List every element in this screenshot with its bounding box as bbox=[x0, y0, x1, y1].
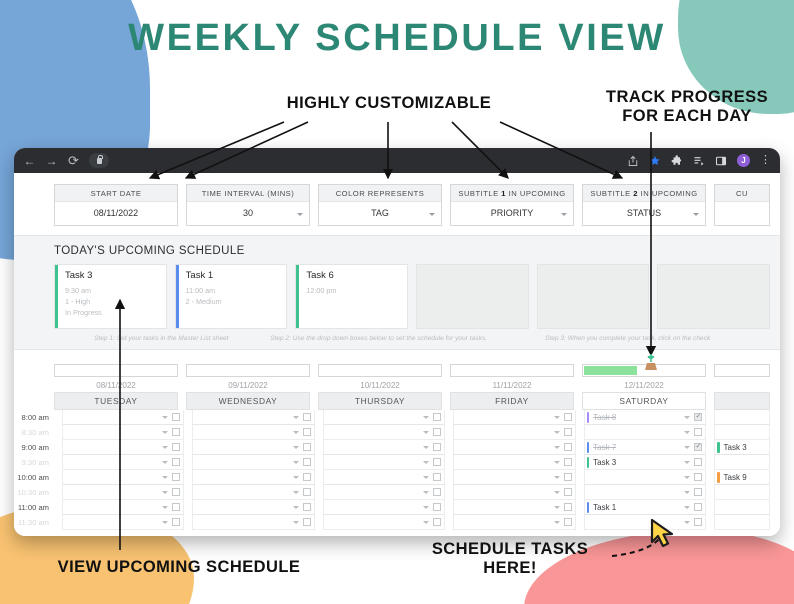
setting-label-0: START DATE bbox=[55, 185, 177, 202]
day-name-header: SATURDAY bbox=[582, 392, 706, 410]
day-name-header: WEDNESDAY bbox=[186, 392, 310, 410]
day-name-row: TUESDAYWEDNESDAYTHURSDAYFRIDAYSATURDAY bbox=[14, 392, 780, 410]
schedule-cell[interactable] bbox=[62, 410, 184, 425]
chevron-down-icon[interactable] bbox=[684, 446, 690, 449]
chevron-down-icon[interactable] bbox=[423, 446, 429, 449]
task-checkbox[interactable] bbox=[172, 518, 180, 526]
lock-icon bbox=[97, 158, 102, 164]
time-grid-row: 8:00 amTask 8 bbox=[14, 410, 780, 425]
chevron-down-icon[interactable] bbox=[554, 476, 560, 479]
task-checkbox[interactable] bbox=[564, 503, 572, 511]
chevron-down-icon[interactable] bbox=[162, 476, 168, 479]
time-grid-row: 11:00 amTask 1 bbox=[14, 500, 780, 515]
reload-icon[interactable]: ⟳ bbox=[67, 154, 80, 167]
schedule-cell[interactable] bbox=[192, 410, 314, 425]
task-checkbox[interactable] bbox=[172, 428, 180, 436]
task-checkbox[interactable] bbox=[303, 443, 311, 451]
task-label: Task 7 bbox=[589, 443, 616, 452]
chevron-down-icon[interactable] bbox=[293, 416, 299, 419]
day-date-label: 12/11/2022 bbox=[582, 381, 706, 390]
schedule-cell[interactable]: Task 1 bbox=[584, 500, 706, 515]
card-time: 12:00 pm bbox=[306, 285, 336, 296]
chevron-down-icon[interactable] bbox=[684, 476, 690, 479]
schedule-cell[interactable] bbox=[323, 485, 445, 500]
setting-value-1[interactable]: 30 bbox=[187, 202, 309, 225]
schedule-cell[interactable] bbox=[192, 440, 314, 455]
chevron-down-icon[interactable] bbox=[554, 431, 560, 434]
task-checkbox[interactable] bbox=[433, 488, 441, 496]
setting-value-4[interactable]: STATUS bbox=[583, 202, 705, 225]
chevron-down-icon[interactable] bbox=[293, 461, 299, 464]
day-progress-bar bbox=[450, 364, 574, 377]
task-checkbox[interactable] bbox=[303, 518, 311, 526]
avatar[interactable]: J bbox=[737, 154, 750, 167]
callout-highly-customizable: HIGHLY CUSTOMIZABLE bbox=[262, 94, 516, 113]
task-checkbox[interactable] bbox=[433, 443, 441, 451]
schedule-cell[interactable] bbox=[192, 455, 314, 470]
task-checkbox[interactable] bbox=[694, 488, 702, 496]
task-label: Task 3 bbox=[720, 443, 747, 452]
chevron-down-icon[interactable] bbox=[162, 491, 168, 494]
day-date-label: 11/11/2022 bbox=[450, 381, 574, 390]
chevron-down-icon[interactable] bbox=[293, 446, 299, 449]
day-progress-bar bbox=[54, 364, 178, 377]
setting-label-5: CU bbox=[715, 185, 769, 202]
task-checkbox[interactable] bbox=[303, 473, 311, 481]
task-checkbox[interactable] bbox=[172, 413, 180, 421]
schedule-cell[interactable] bbox=[323, 455, 445, 470]
setting-label-3: SUBTITLE 1 IN UPCOMING bbox=[451, 185, 573, 202]
setting-field-5[interactable]: CU bbox=[714, 184, 770, 226]
schedule-cell[interactable] bbox=[323, 410, 445, 425]
task-checkbox[interactable] bbox=[564, 428, 572, 436]
task-checkbox[interactable] bbox=[564, 413, 572, 421]
time-grid-row: 10:00 amTask 9 bbox=[14, 470, 780, 485]
chevron-down-icon[interactable] bbox=[554, 416, 560, 419]
schedule-cell[interactable] bbox=[453, 410, 575, 425]
day-progress-bar bbox=[186, 364, 310, 377]
day-name-header: FRIDAY bbox=[450, 392, 574, 410]
schedule-cell[interactable] bbox=[323, 440, 445, 455]
time-label: 10:00 am bbox=[14, 470, 54, 485]
card-priority: 1 - High bbox=[65, 296, 102, 307]
schedule-cell[interactable] bbox=[453, 425, 575, 440]
page-title: WEEKLY SCHEDULE VIEW bbox=[0, 17, 794, 60]
extensions-puzzle-icon[interactable] bbox=[671, 155, 683, 167]
task-checkbox[interactable] bbox=[564, 473, 572, 481]
task-checkbox[interactable] bbox=[433, 518, 441, 526]
task-checkbox[interactable] bbox=[564, 458, 572, 466]
schedule-cell[interactable] bbox=[453, 455, 575, 470]
setting-field-4[interactable]: SUBTITLE 2 IN UPCOMINGSTATUS bbox=[582, 184, 706, 226]
chevron-down-icon[interactable] bbox=[684, 416, 690, 419]
chevron-down-icon[interactable] bbox=[423, 521, 429, 524]
card-priority: 2 - Medium bbox=[186, 296, 222, 307]
card-body: Task 39:30 am1 - HighIn Progress bbox=[58, 265, 109, 328]
task-checkbox[interactable] bbox=[433, 503, 441, 511]
day-progress-row bbox=[14, 350, 780, 381]
schedule-cell[interactable] bbox=[714, 515, 770, 530]
card-body: Task 612:00 pm bbox=[299, 265, 343, 328]
bookmark-star-icon[interactable] bbox=[649, 155, 661, 167]
time-label: 8:00 am bbox=[14, 410, 54, 425]
chevron-down-icon[interactable] bbox=[162, 461, 168, 464]
chevron-down-icon[interactable] bbox=[293, 506, 299, 509]
step-1-text: Step 1: Set your tasks in the Master Lis… bbox=[94, 335, 244, 342]
task-label: Task 3 bbox=[589, 458, 616, 467]
step-3-text: Step 3: When you complete your task, cli… bbox=[545, 335, 760, 342]
spreadsheet-area: START DATE08/11/2022TIME INTERVAL (MINS)… bbox=[14, 173, 780, 536]
setting-label-4: SUBTITLE 2 IN UPCOMING bbox=[583, 185, 705, 202]
setting-field-3[interactable]: SUBTITLE 1 IN UPCOMINGPRIORITY bbox=[450, 184, 574, 226]
day-name-header: THURSDAY bbox=[318, 392, 442, 410]
schedule-cell[interactable] bbox=[62, 485, 184, 500]
chevron-down-icon[interactable] bbox=[554, 521, 560, 524]
time-label: 10:30 am bbox=[14, 485, 54, 500]
schedule-cell[interactable] bbox=[192, 485, 314, 500]
setting-value-2[interactable]: TAG bbox=[319, 202, 441, 225]
upcoming-card[interactable]: Task 39:30 am1 - HighIn Progress bbox=[54, 264, 167, 329]
schedule-cell[interactable] bbox=[714, 410, 770, 425]
chevron-down-icon[interactable] bbox=[293, 476, 299, 479]
schedule-cell[interactable]: Task 3 bbox=[584, 455, 706, 470]
step-instructions: Step 1: Set your tasks in the Master Lis… bbox=[54, 329, 770, 349]
task-checkbox[interactable] bbox=[694, 428, 702, 436]
schedule-cell[interactable] bbox=[584, 485, 706, 500]
forward-arrow-icon[interactable]: → bbox=[45, 155, 58, 167]
chevron-down-icon[interactable] bbox=[554, 491, 560, 494]
time-grid-row: 10:30 am bbox=[14, 485, 780, 500]
time-label: 11:30 am bbox=[14, 515, 54, 530]
poster-canvas: WEEKLY SCHEDULE VIEW HIGHLY CUSTOMIZABLE… bbox=[0, 0, 794, 604]
setting-value-0[interactable]: 08/11/2022 bbox=[55, 202, 177, 225]
chevron-down-icon[interactable] bbox=[293, 431, 299, 434]
task-label: Task 8 bbox=[589, 413, 616, 422]
time-grid: 8:00 amTask 88:30 am9:00 amTask 7Task 39… bbox=[14, 410, 780, 530]
task-checkbox[interactable] bbox=[433, 428, 441, 436]
schedule-cell[interactable] bbox=[192, 425, 314, 440]
task-checkbox[interactable] bbox=[303, 413, 311, 421]
card-title: Task 3 bbox=[65, 270, 102, 281]
task-checkbox[interactable] bbox=[564, 488, 572, 496]
chevron-down-icon[interactable] bbox=[162, 521, 168, 524]
schedule-cell[interactable] bbox=[62, 515, 184, 530]
schedule-cell[interactable]: Task 8 bbox=[584, 410, 706, 425]
settings-row: START DATE08/11/2022TIME INTERVAL (MINS)… bbox=[14, 173, 780, 235]
day-date-label bbox=[714, 381, 770, 390]
day-name-header: TUESDAY bbox=[54, 392, 178, 410]
chevron-down-icon[interactable] bbox=[423, 431, 429, 434]
schedule-cell[interactable] bbox=[714, 425, 770, 440]
task-checkbox[interactable] bbox=[303, 503, 311, 511]
schedule-cell[interactable] bbox=[323, 515, 445, 530]
share-icon[interactable] bbox=[627, 155, 639, 167]
cursor-pointer-icon bbox=[648, 516, 678, 550]
schedule-cell[interactable]: Task 3 bbox=[714, 440, 770, 455]
chevron-down-icon[interactable] bbox=[554, 506, 560, 509]
browser-toolbar: ← → ⟳ J ⋮ bbox=[14, 148, 780, 173]
task-checkbox[interactable] bbox=[694, 473, 702, 481]
schedule-cell[interactable] bbox=[323, 470, 445, 485]
task-checkbox[interactable] bbox=[303, 428, 311, 436]
schedule-cell[interactable] bbox=[453, 500, 575, 515]
setting-value-5[interactable] bbox=[715, 202, 769, 222]
schedule-cell[interactable] bbox=[62, 425, 184, 440]
card-title: Task 6 bbox=[306, 270, 336, 281]
task-checkbox[interactable] bbox=[172, 503, 180, 511]
progress-fill bbox=[584, 366, 637, 375]
time-grid-row: 9:00 amTask 7Task 3 bbox=[14, 440, 780, 455]
card-time: 11:00 am bbox=[186, 285, 222, 296]
chevron-down-icon[interactable] bbox=[554, 446, 560, 449]
setting-label-2: COLOR REPRESENTS bbox=[319, 185, 441, 202]
upcoming-card[interactable]: Task 111:00 am2 - Medium bbox=[175, 264, 288, 329]
task-checkbox[interactable] bbox=[172, 443, 180, 451]
schedule-cell[interactable] bbox=[192, 515, 314, 530]
callout-view-upcoming: VIEW UPCOMING SCHEDULE bbox=[14, 558, 344, 577]
chevron-down-icon[interactable] bbox=[162, 446, 168, 449]
chevron-down-icon[interactable] bbox=[561, 213, 567, 216]
schedule-cell[interactable]: Task 7 bbox=[584, 440, 706, 455]
task-checkbox[interactable] bbox=[694, 458, 702, 466]
task-checkbox[interactable] bbox=[694, 443, 702, 451]
task-checkbox[interactable] bbox=[694, 413, 702, 421]
chevron-down-icon[interactable] bbox=[684, 461, 690, 464]
schedule-cell[interactable] bbox=[714, 500, 770, 515]
schedule-cell[interactable] bbox=[62, 500, 184, 515]
day-name-header bbox=[714, 392, 770, 410]
upcoming-schedule-panel: TODAY'S UPCOMING SCHEDULE Task 39:30 am1… bbox=[14, 235, 780, 350]
task-checkbox[interactable] bbox=[172, 488, 180, 496]
card-title: Task 1 bbox=[186, 270, 222, 281]
side-panel-icon[interactable] bbox=[715, 155, 727, 167]
reading-list-icon[interactable] bbox=[693, 155, 705, 167]
chevron-down-icon[interactable] bbox=[684, 431, 690, 434]
schedule-cell[interactable] bbox=[584, 425, 706, 440]
schedule-cell[interactable] bbox=[453, 515, 575, 530]
upcoming-card-list: Task 39:30 am1 - HighIn ProgressTask 111… bbox=[54, 264, 770, 329]
chevron-down-icon[interactable] bbox=[684, 521, 690, 524]
task-checkbox[interactable] bbox=[172, 473, 180, 481]
chevron-down-icon[interactable] bbox=[162, 431, 168, 434]
chevron-down-icon[interactable] bbox=[162, 506, 168, 509]
schedule-cell[interactable] bbox=[62, 455, 184, 470]
upcoming-card[interactable]: Task 612:00 pm bbox=[295, 264, 408, 329]
schedule-cell[interactable] bbox=[323, 425, 445, 440]
setting-field-2[interactable]: COLOR REPRESENTSTAG bbox=[318, 184, 442, 226]
plant-progress-icon bbox=[640, 352, 662, 374]
task-label: Task 1 bbox=[589, 503, 616, 512]
schedule-cell[interactable] bbox=[62, 470, 184, 485]
chevron-down-icon[interactable] bbox=[423, 461, 429, 464]
upcoming-card[interactable] bbox=[537, 264, 650, 329]
chevron-down-icon[interactable] bbox=[423, 416, 429, 419]
chevron-down-icon[interactable] bbox=[684, 506, 690, 509]
chevron-down-icon[interactable] bbox=[554, 461, 560, 464]
browser-window: ← → ⟳ J ⋮ START DATE08/11/2022TIME INTER… bbox=[14, 148, 780, 536]
chevron-down-icon[interactable] bbox=[693, 213, 699, 216]
schedule-cell[interactable] bbox=[714, 455, 770, 470]
task-checkbox[interactable] bbox=[433, 473, 441, 481]
task-checkbox[interactable] bbox=[564, 518, 572, 526]
back-arrow-icon[interactable]: ← bbox=[23, 155, 36, 167]
chevron-down-icon[interactable] bbox=[423, 506, 429, 509]
day-date-label: 10/11/2022 bbox=[318, 381, 442, 390]
chevron-down-icon[interactable] bbox=[684, 491, 690, 494]
task-checkbox[interactable] bbox=[303, 458, 311, 466]
address-bar[interactable] bbox=[89, 153, 109, 168]
time-label: 8:30 am bbox=[14, 425, 54, 440]
day-date-row: 08/11/202209/11/202210/11/202211/11/2022… bbox=[14, 381, 780, 392]
schedule-cell[interactable] bbox=[453, 485, 575, 500]
step-2-text: Step 2: Use the drop down boxes below to… bbox=[252, 335, 537, 342]
time-label: 11:00 am bbox=[14, 500, 54, 515]
schedule-cell[interactable] bbox=[453, 470, 575, 485]
task-checkbox[interactable] bbox=[694, 518, 702, 526]
schedule-cell[interactable] bbox=[584, 515, 706, 530]
time-grid-row: 9:30 amTask 3 bbox=[14, 455, 780, 470]
upcoming-card[interactable] bbox=[416, 264, 529, 329]
card-body: Task 111:00 am2 - Medium bbox=[179, 265, 229, 328]
schedule-cell[interactable] bbox=[192, 500, 314, 515]
task-checkbox[interactable] bbox=[694, 503, 702, 511]
chevron-down-icon[interactable] bbox=[297, 213, 303, 216]
setting-field-1[interactable]: TIME INTERVAL (MINS)30 bbox=[186, 184, 310, 226]
task-checkbox[interactable] bbox=[564, 443, 572, 451]
chevron-down-icon[interactable] bbox=[293, 521, 299, 524]
task-checkbox[interactable] bbox=[303, 488, 311, 496]
upcoming-heading: TODAY'S UPCOMING SCHEDULE bbox=[54, 245, 770, 264]
chevron-down-icon[interactable] bbox=[293, 491, 299, 494]
day-date-label: 08/11/2022 bbox=[54, 381, 178, 390]
chevron-down-icon[interactable] bbox=[423, 491, 429, 494]
callout-schedule-tasks: SCHEDULE TASKS HERE! bbox=[404, 540, 616, 578]
schedule-cell[interactable] bbox=[192, 470, 314, 485]
time-label: 9:30 am bbox=[14, 455, 54, 470]
upcoming-card[interactable] bbox=[657, 264, 770, 329]
chevron-down-icon[interactable] bbox=[423, 476, 429, 479]
chevron-down-icon[interactable] bbox=[162, 416, 168, 419]
day-date-label: 09/11/2022 bbox=[186, 381, 310, 390]
time-label: 9:00 am bbox=[14, 440, 54, 455]
three-dot-menu-icon[interactable]: ⋮ bbox=[760, 155, 771, 166]
schedule-cell[interactable] bbox=[584, 470, 706, 485]
schedule-cell[interactable] bbox=[62, 440, 184, 455]
task-checkbox[interactable] bbox=[433, 458, 441, 466]
card-status: In Progress bbox=[65, 307, 102, 318]
day-progress-bar bbox=[714, 364, 770, 377]
day-progress-bar bbox=[318, 364, 442, 377]
time-grid-row: 8:30 am bbox=[14, 425, 780, 440]
setting-value-3[interactable]: PRIORITY bbox=[451, 202, 573, 225]
chevron-down-icon[interactable] bbox=[429, 213, 435, 216]
schedule-cell[interactable] bbox=[714, 485, 770, 500]
setting-label-1: TIME INTERVAL (MINS) bbox=[187, 185, 309, 202]
callout-track-progress: TRACK PROGRESS FOR EACH DAY bbox=[580, 88, 794, 126]
task-checkbox[interactable] bbox=[433, 413, 441, 421]
card-time: 9:30 am bbox=[65, 285, 102, 296]
setting-field-0[interactable]: START DATE08/11/2022 bbox=[54, 184, 178, 226]
task-checkbox[interactable] bbox=[172, 458, 180, 466]
schedule-cell[interactable] bbox=[453, 440, 575, 455]
schedule-cell[interactable]: Task 9 bbox=[714, 470, 770, 485]
schedule-cell[interactable] bbox=[323, 500, 445, 515]
task-label: Task 9 bbox=[720, 473, 747, 482]
